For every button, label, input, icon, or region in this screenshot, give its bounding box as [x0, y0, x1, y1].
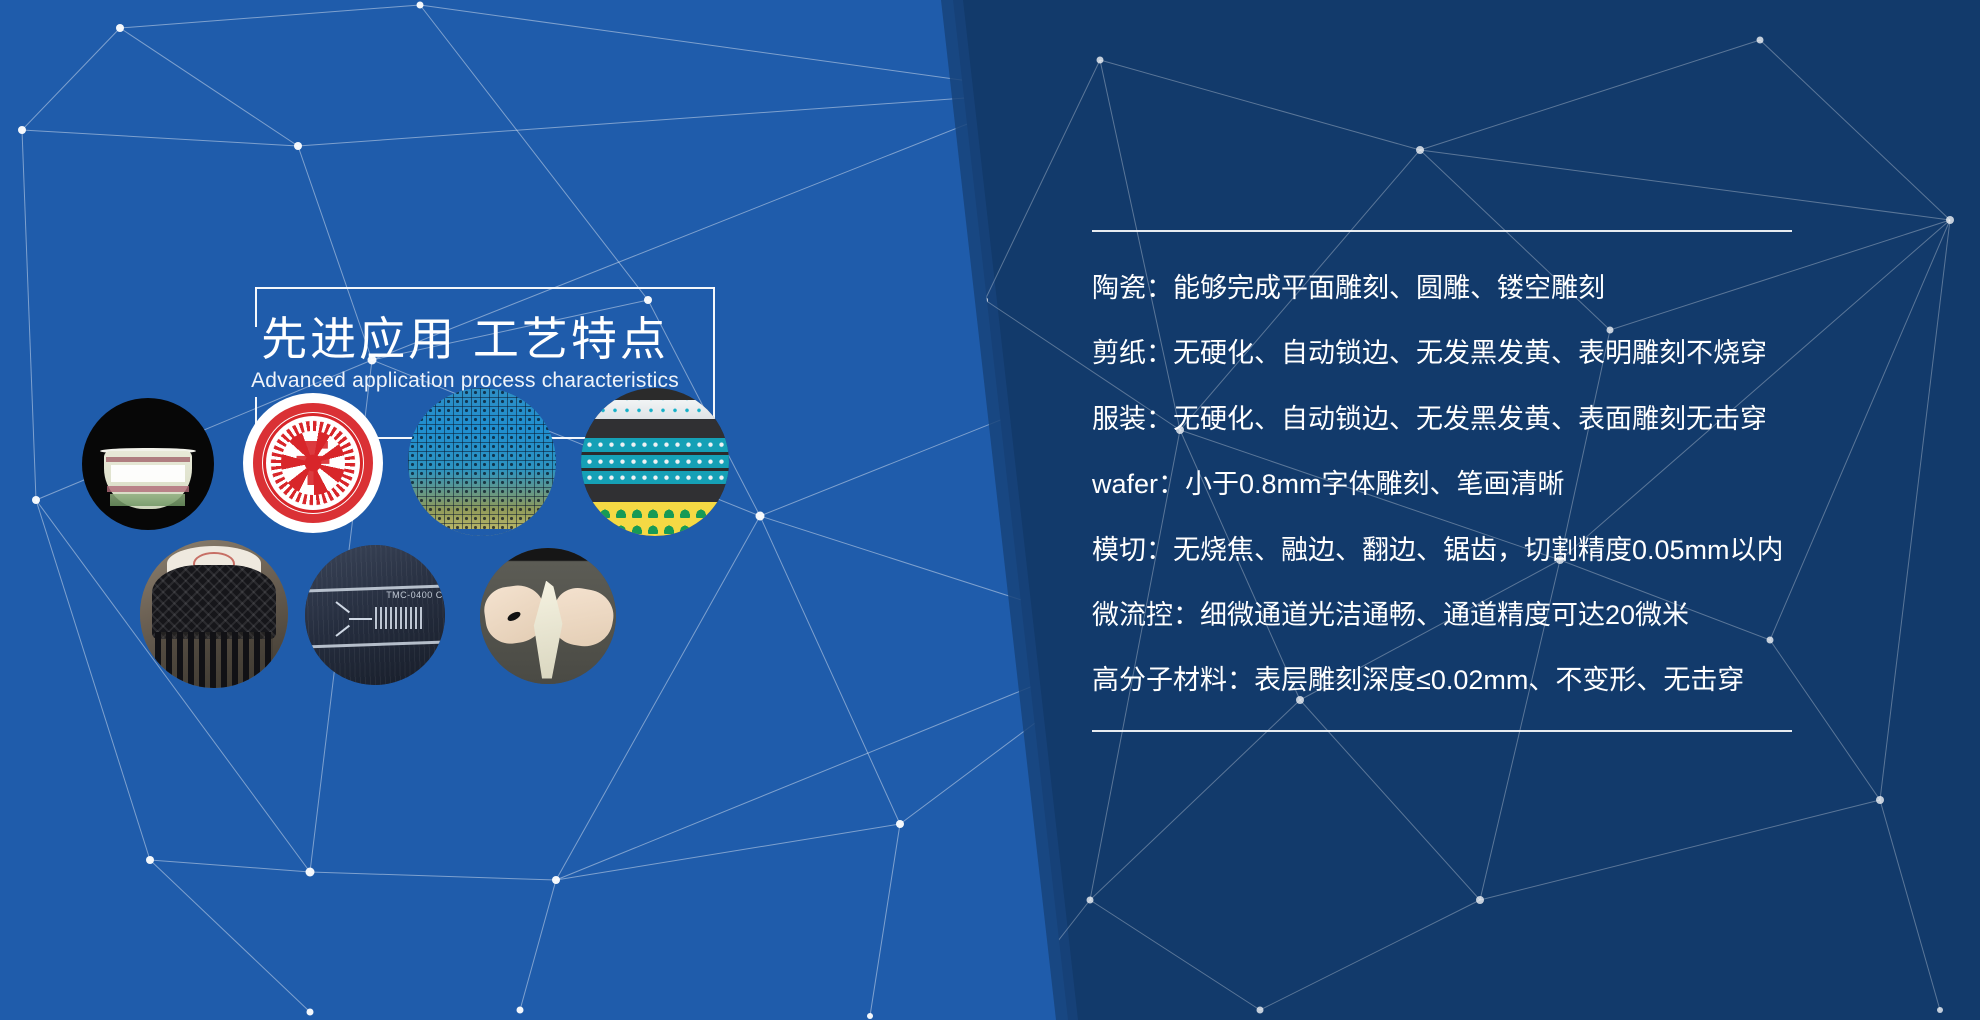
microfluidic-stripes-photo	[581, 388, 729, 536]
gallery-image-polymer-film[interactable]	[480, 548, 616, 684]
page-title: 先进应用 工艺特点	[230, 303, 700, 369]
gallery-image-microfluidic-stripes[interactable]	[581, 388, 729, 536]
divider-bottom	[1092, 730, 1792, 732]
polymer-film-photo	[480, 548, 616, 684]
spec-item-microfluidics: 微流控：细微通道光洁通畅、通道精度可达20微米	[1092, 599, 1792, 631]
divider-top	[1092, 230, 1792, 232]
spec-item-polymer: 高分子材料：表层雕刻深度≤0.02mm、不变形、无击穿	[1092, 664, 1792, 696]
gallery-image-garment-perforation[interactable]	[140, 540, 288, 688]
spec-item-papercut: 剪纸：无硬化、自动锁边、无发黑发黄、表明雕刻不烧穿	[1092, 337, 1792, 369]
spec-item-wafer: wafer：小于0.8mm字体雕刻、笔画清晰	[1092, 468, 1792, 500]
spec-item-apparel: 服装：无硬化、自动锁边、无发黑发黄、表面雕刻无击穿	[1092, 403, 1792, 435]
silicon-wafer-photo	[408, 388, 556, 536]
gallery-image-ceramic-bowl[interactable]	[82, 398, 214, 530]
ceramic-bowl-photo	[82, 398, 214, 530]
gallery-image-silicon-wafer[interactable]	[408, 388, 556, 536]
paper-cut-photo	[243, 393, 383, 533]
gallery-image-paper-cut[interactable]	[243, 393, 383, 533]
spec-item-diecutting: 模切：无烧焦、融边、翻边、锯齿，切割精度0.05mm以内	[1092, 534, 1792, 566]
frame-edge-top	[255, 287, 715, 289]
spec-item-ceramic: 陶瓷：能够完成平面雕刻、圆雕、镂空雕刻	[1092, 272, 1792, 304]
slide-canvas: 先进应用 工艺特点 Advanced application process c…	[0, 0, 1980, 1020]
chip-channels-photo: TMC-0400 Chip	[305, 545, 445, 685]
chip-label-text: TMC-0400 Chip	[386, 590, 445, 600]
specification-list: 陶瓷：能够完成平面雕刻、圆雕、镂空雕刻 剪纸：无硬化、自动锁边、无发黑发黄、表明…	[1092, 230, 1792, 732]
gallery-image-chip-channels[interactable]: TMC-0400 Chip	[305, 545, 445, 685]
garment-perforation-photo	[140, 540, 288, 688]
